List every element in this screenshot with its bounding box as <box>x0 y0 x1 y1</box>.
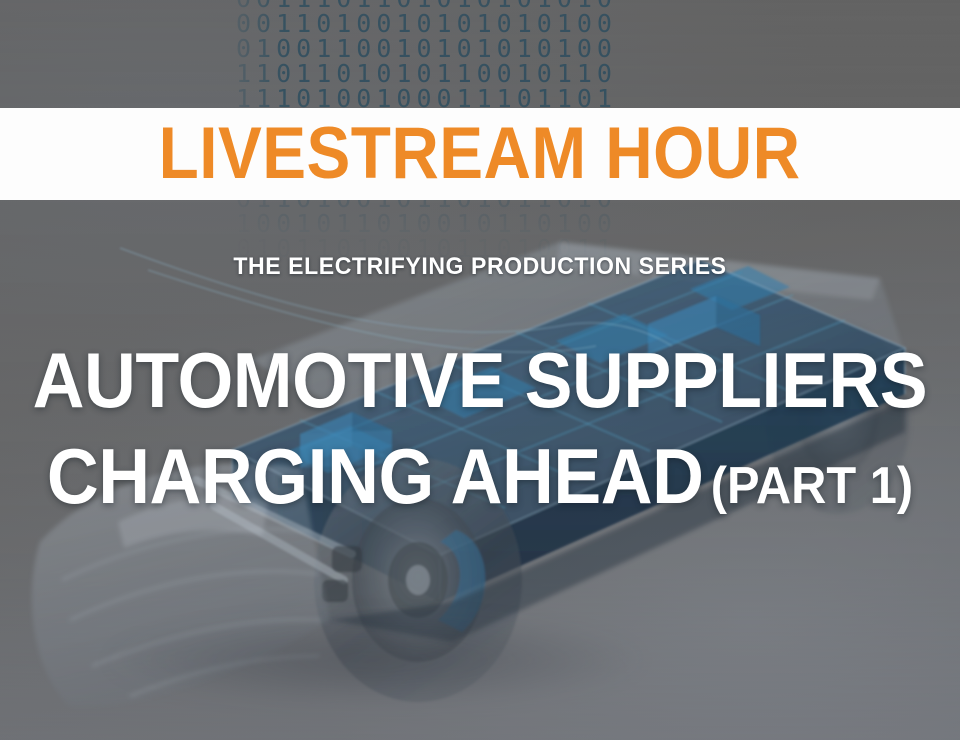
series-label: THE ELECTRIFYING PRODUCTION SERIES <box>19 253 941 281</box>
headline-line-2: CHARGING AHEAD(PART 1) <box>36 428 921 534</box>
banner-title: LIVESTREAM HOUR <box>159 117 801 190</box>
headline: AUTOMOTIVE SUPPLIERS CHARGING AHEAD(PART… <box>0 332 960 534</box>
promo-banner: 0011101101010101010 0011010010101010100 … <box>0 0 960 740</box>
headline-line-2-main: CHARGING AHEAD <box>47 432 704 520</box>
headline-line-1: AUTOMOTIVE SUPPLIERS <box>33 332 922 428</box>
headline-part-label: (PART 1) <box>711 438 913 534</box>
livestream-banner: LIVESTREAM HOUR <box>0 108 960 200</box>
